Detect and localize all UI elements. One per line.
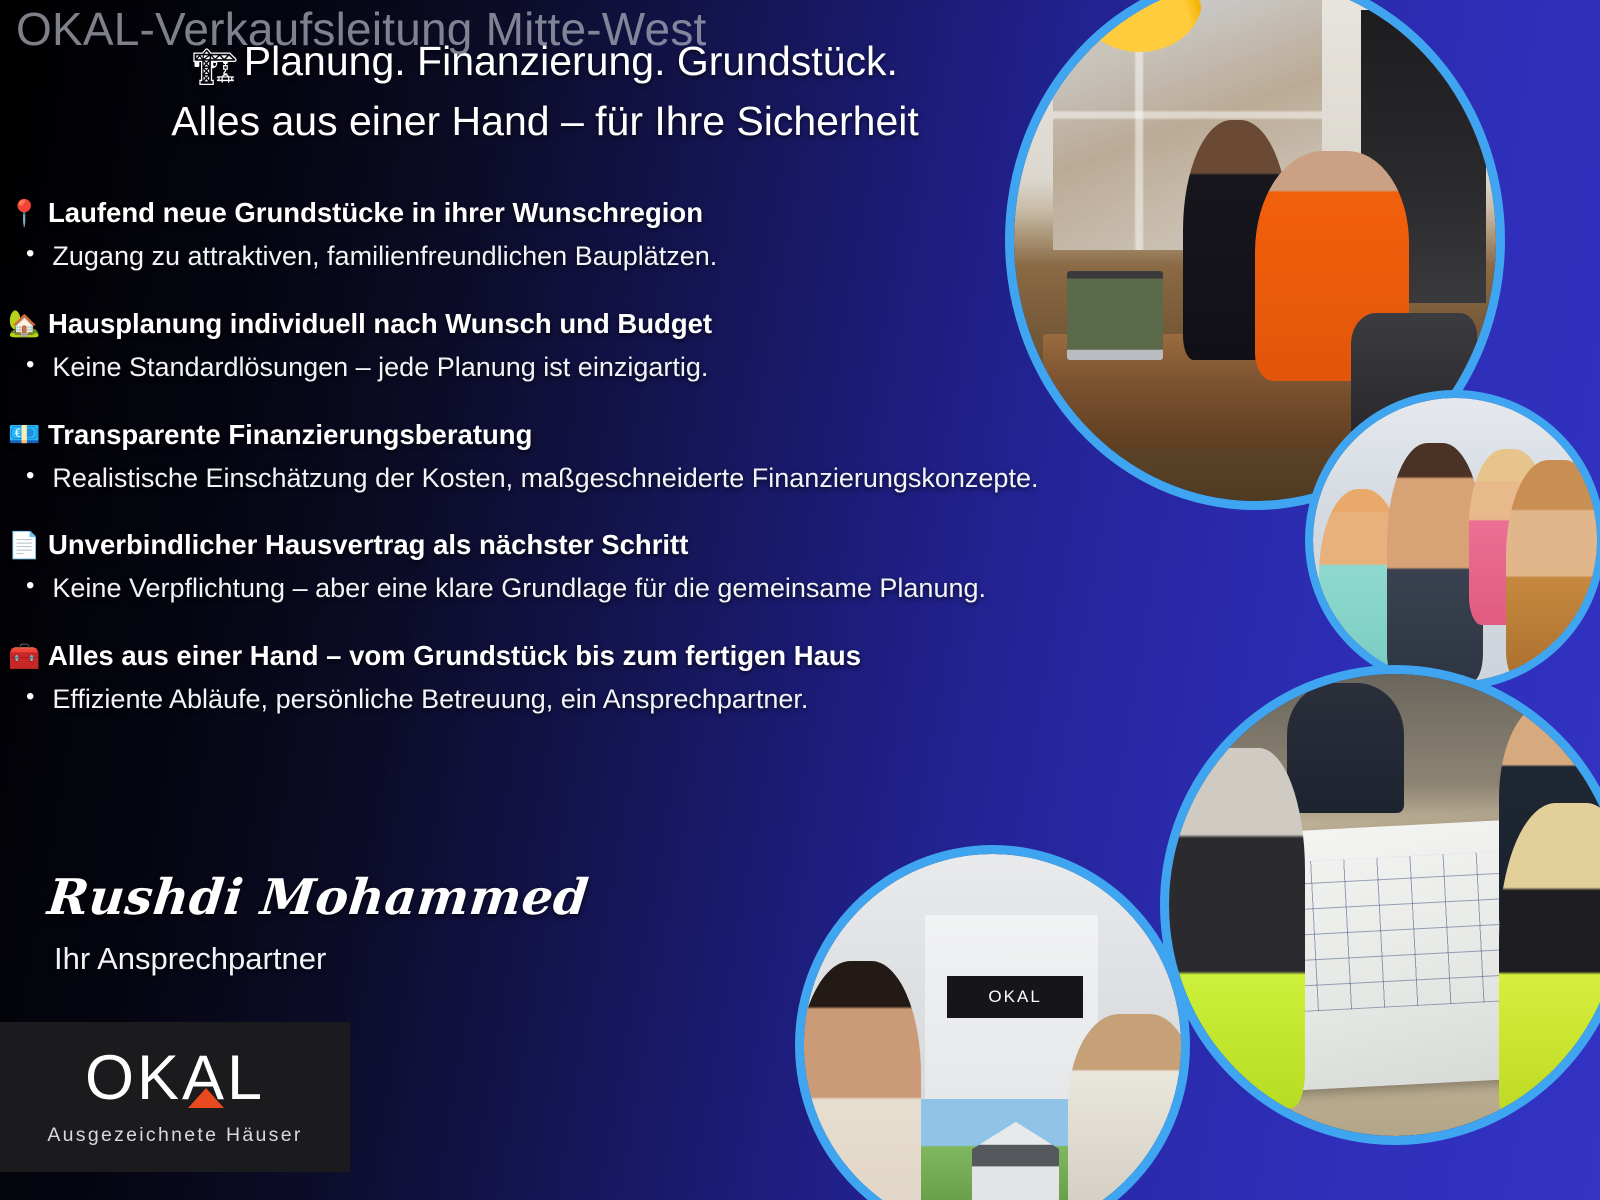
contact-name: Rushdi Mohammed	[45, 868, 592, 926]
planner-figure	[1499, 803, 1600, 1126]
benefit-title: Alles aus einer Hand – vom Grundstück bi…	[48, 639, 861, 672]
benefit-list: 📍 Laufend neue Grundstücke in ihrer Wuns…	[8, 196, 1338, 750]
banknote-icon: 💶	[8, 421, 38, 447]
okal-logo-tagline: Ausgezeichnete Häuser	[47, 1124, 302, 1147]
bullet-marker: •	[26, 240, 34, 268]
benefit-item: 📍 Laufend neue Grundstücke in ihrer Wuns…	[8, 196, 1338, 274]
house-icon: 🏡	[8, 310, 38, 336]
booth-banner-logo: OKAL	[947, 976, 1083, 1018]
marketing-poster: OKAL OKAL-Verkaufsleitung Mitte-West 🏗Pl…	[0, 0, 1600, 1200]
benefit-item: 💶 Transparente Finanzierungsberatung • R…	[8, 418, 1338, 496]
fair-booth-photo: OKAL	[795, 845, 1190, 1200]
family-photo-image	[1313, 398, 1597, 682]
benefit-title: Unverbindlicher Hausvertrag als nächster…	[48, 528, 688, 561]
booth-visitors-figure	[1068, 1014, 1181, 1200]
benefit-title: Laufend neue Grundstücke in ihrer Wunsch…	[48, 196, 703, 229]
benefit-bullet: • Keine Standardlösungen – jede Planung …	[26, 351, 1338, 385]
benefit-bullet-text: Effiziente Abläufe, persönliche Betreuun…	[52, 683, 808, 717]
benefit-heading: 🧰 Alles aus einer Hand – vom Grundstück …	[8, 639, 1338, 672]
fair-booth-photo-image: OKAL	[804, 854, 1181, 1200]
bullet-marker: •	[26, 462, 34, 490]
benefit-item: 📄 Unverbindlicher Hausvertrag als nächst…	[8, 528, 1338, 606]
bullet-marker: •	[26, 683, 34, 711]
benefit-bullet-text: Keine Verpflichtung – aber eine klare Gr…	[52, 572, 986, 606]
okal-logo-text: OKAL	[85, 1043, 265, 1113]
benefit-bullet: • Effiziente Abläufe, persönliche Betreu…	[26, 683, 1338, 717]
booth-advisor-figure	[804, 961, 921, 1200]
contact-role: Ihr Ansprechpartner	[54, 941, 588, 977]
headline-line-2: Alles aus einer Hand – für Ihre Sicherhe…	[80, 92, 1010, 150]
benefit-bullet: • Zugang zu attraktiven, familienfreundl…	[26, 240, 1338, 274]
okal-triangle-icon	[188, 1088, 224, 1108]
benefit-title: Hausplanung individuell nach Wunsch und …	[48, 307, 712, 340]
benefit-item: 🧰 Alles aus einer Hand – vom Grundstück …	[8, 639, 1338, 717]
benefit-title: Transparente Finanzierungsberatung	[48, 418, 532, 451]
benefit-item: 🏡 Hausplanung individuell nach Wunsch un…	[8, 307, 1338, 385]
okal-logo-wordmark: OKAL	[85, 1047, 265, 1110]
map-pin-icon: 📍	[8, 200, 38, 226]
benefit-heading: 🏡 Hausplanung individuell nach Wunsch un…	[8, 307, 1338, 340]
bullet-marker: •	[26, 351, 34, 379]
benefit-heading: 💶 Transparente Finanzierungsberatung	[8, 418, 1338, 451]
benefit-bullet-text: Zugang zu attraktiven, familienfreundlic…	[52, 240, 717, 274]
benefit-bullet-text: Keine Standardlösungen – jede Planung is…	[52, 351, 708, 385]
benefit-bullet-text: Realistische Einschätzung der Kosten, ma…	[52, 462, 1038, 496]
mother-figure	[1506, 460, 1597, 682]
benefit-heading: 📄 Unverbindlicher Hausvertrag als nächst…	[8, 528, 1338, 561]
benefit-heading: 📍 Laufend neue Grundstücke in ihrer Wuns…	[8, 196, 1338, 229]
family-photo	[1305, 390, 1600, 690]
signature-block: Rushdi Mohammed Ihr Ansprechpartner	[48, 868, 588, 977]
document-icon: 📄	[8, 532, 38, 558]
benefit-bullet: • Keine Verpflichtung – aber eine klare …	[26, 572, 1338, 606]
watermark-title: OKAL-Verkaufsleitung Mitte-West	[16, 2, 707, 56]
toolbox-icon: 🧰	[8, 643, 38, 669]
benefit-bullet: • Realistische Einschätzung der Kosten, …	[26, 462, 1338, 496]
bullet-marker: •	[26, 572, 34, 600]
okal-logo: OKAL Ausgezeichnete Häuser	[0, 1022, 350, 1172]
